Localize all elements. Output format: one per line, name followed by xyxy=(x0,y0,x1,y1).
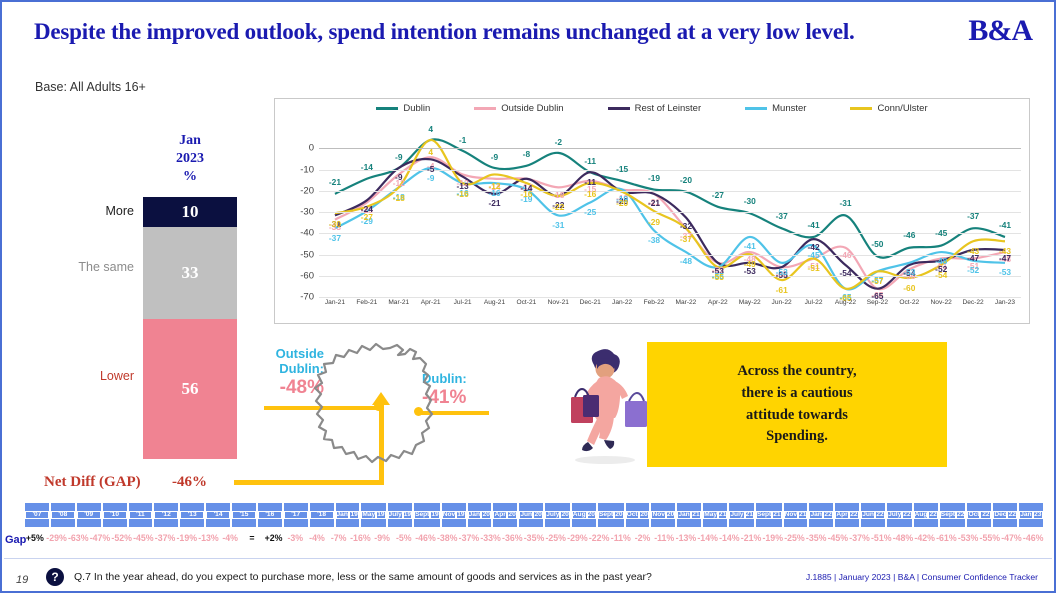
data-label: -27 xyxy=(712,190,724,200)
gap-table-column-header: '14 xyxy=(205,502,231,528)
page-title: Despite the improved outlook, spend inte… xyxy=(34,18,914,47)
chart-gridline xyxy=(319,255,1021,256)
slide: Despite the improved outlook, spend inte… xyxy=(0,0,1056,593)
gap-table-column-header: Dec22 xyxy=(992,502,1018,528)
legend-item-conn-ulster[interactable]: Conn/Ulster xyxy=(850,103,927,114)
y-tick-label: -20 xyxy=(300,185,314,196)
gap-table-value: -46% xyxy=(1022,533,1044,543)
gap-table-value: -21% xyxy=(740,533,762,543)
gap-table-column-header: Apr22 xyxy=(834,502,860,528)
gap-table-column-header: '09 xyxy=(76,502,102,528)
net-diff-label: Net Diff (GAP) xyxy=(44,474,141,491)
y-tick-label: -30 xyxy=(300,207,314,218)
data-label: -25 xyxy=(584,207,596,217)
gap-table-value: -29% xyxy=(567,533,589,543)
gap-table-column-header: Jan23 xyxy=(1018,502,1044,528)
x-tick-label: Jan-21 xyxy=(319,299,351,319)
gap-table-column-header: '13 xyxy=(179,502,205,528)
gap-table-column-header: Sept20 xyxy=(597,502,625,528)
data-label: -8 xyxy=(523,149,530,159)
trend-chart: DublinOutside DublinRest of LeinsterMuns… xyxy=(274,98,1030,324)
gap-table-value: -51% xyxy=(870,533,892,543)
data-label: -11 xyxy=(584,177,596,187)
data-label: -50 xyxy=(871,239,883,249)
gap-table-column-header: '07 xyxy=(24,502,50,528)
chart-plot-area: 0-10-20-30-40-50-60-70-21-14-94-1-9-8-2-… xyxy=(319,127,1021,297)
data-label: -37 xyxy=(776,211,788,221)
gap-table-value: -42% xyxy=(914,533,936,543)
gap-table-column-header: July21 xyxy=(728,502,755,528)
y-tick-label: -50 xyxy=(300,249,314,260)
gap-table-column-header: July20 xyxy=(544,502,571,528)
legend-swatch-icon xyxy=(474,107,496,110)
gap-table-values-row: +5%-29%-63%-47%-52%-45%-37%-19%-13%-4%=+… xyxy=(24,533,1044,543)
y-tick-label: -40 xyxy=(300,228,314,239)
gap-table-column-header: Jan20 xyxy=(467,502,493,528)
chart-gridline xyxy=(319,170,1021,171)
legend-swatch-icon xyxy=(745,107,767,110)
bar-segment-same: 33 xyxy=(143,227,237,319)
gap-table-value: +2% xyxy=(263,533,285,543)
data-label: -11 xyxy=(584,156,596,166)
data-label: -29 xyxy=(648,217,660,227)
data-label: -31 xyxy=(552,220,564,230)
chart-gridline xyxy=(319,212,1021,213)
legend-label: Outside Dublin xyxy=(501,103,563,114)
gap-table-value: -33% xyxy=(480,533,502,543)
gap-table-column-header: May19 xyxy=(360,502,386,528)
gap-table-value: -22% xyxy=(588,533,610,543)
x-tick-label: Dec-21 xyxy=(574,299,606,319)
gap-table-value: -47% xyxy=(1001,533,1023,543)
credit-text: J.1885 | January 2023 | B&A | Consumer C… xyxy=(806,572,1038,582)
gap-table-value: -38% xyxy=(436,533,458,543)
data-label: -12 xyxy=(488,181,500,191)
data-label: -54 xyxy=(839,268,851,278)
net-diff-connector-horizontal xyxy=(234,480,384,485)
data-label: -37 xyxy=(967,211,979,221)
gap-table-value: +5% xyxy=(24,533,46,543)
x-tick-label: Jan-23 xyxy=(989,299,1021,319)
bar-column-header-unit: % xyxy=(154,168,226,186)
bar-segment-more: 10 xyxy=(143,197,237,227)
gap-table-column-header: '12 xyxy=(153,502,179,528)
gap-table-value: -14% xyxy=(719,533,741,543)
x-tick-label: Jul-22 xyxy=(798,299,830,319)
data-label: -48 xyxy=(680,256,692,266)
callout-text-line1: Across the country, xyxy=(737,361,856,383)
gap-table-column-header: '08 xyxy=(50,502,76,528)
gap-table-value: -13% xyxy=(675,533,697,543)
data-label: -20 xyxy=(616,198,628,208)
data-label: -37 xyxy=(680,234,692,244)
yellow-callout-box: Across the country, there is a cautious … xyxy=(647,342,947,467)
legend-item-rest-of-leinster[interactable]: Rest of Leinster xyxy=(608,103,702,114)
x-tick-label: Aug-21 xyxy=(479,299,511,319)
data-label: -30 xyxy=(744,196,756,206)
bar-column-header-year: 2023 xyxy=(154,150,226,168)
y-tick-label: -70 xyxy=(300,292,314,303)
gap-table-value: -48% xyxy=(892,533,914,543)
y-tick-label: 0 xyxy=(309,143,314,154)
x-tick-label: Aug-22 xyxy=(830,299,862,319)
gap-table-column-header: Jan19 xyxy=(335,502,361,528)
gap-table-column-header: Jun22 xyxy=(860,502,886,528)
x-tick-label: Oct-22 xyxy=(893,299,925,319)
legend-item-dublin[interactable]: Dublin xyxy=(376,103,430,114)
bar-column-header-month: Jan xyxy=(154,132,226,150)
gap-table-column-header: '15 xyxy=(231,502,257,528)
gap-table-value: -36% xyxy=(501,533,523,543)
gap-table-value: = xyxy=(241,533,263,543)
data-label: -61 xyxy=(776,285,788,295)
data-label: -27 xyxy=(361,212,373,222)
chart-legend: DublinOutside DublinRest of LeinsterMuns… xyxy=(275,103,1029,114)
callout-text-line4: Spending. xyxy=(737,426,856,448)
bar-column-header: Jan 2023 % xyxy=(154,132,226,187)
gap-table-value: -25% xyxy=(784,533,806,543)
gap-table-column-header: Sept21 xyxy=(755,502,783,528)
callout-text-line2: there is a cautious xyxy=(737,383,856,405)
gap-table-column-header: Aug20 xyxy=(571,502,597,528)
chart-gridline xyxy=(319,148,1021,149)
data-label: -41 xyxy=(808,220,820,230)
legend-label: Dublin xyxy=(403,103,430,114)
data-label: -30 xyxy=(329,219,341,229)
data-label: -21 xyxy=(648,198,660,208)
gap-table-value: -35% xyxy=(805,533,827,543)
legend-item-munster[interactable]: Munster xyxy=(745,103,806,114)
x-tick-label: Feb-22 xyxy=(638,299,670,319)
data-label: -9 xyxy=(427,173,434,183)
x-tick-label: Mar-21 xyxy=(383,299,415,319)
data-label: -19 xyxy=(648,173,660,183)
gap-table-value: -35% xyxy=(523,533,545,543)
gap-table-value: -9% xyxy=(371,533,393,543)
data-label: -16 xyxy=(457,189,469,199)
gap-table-value: -29% xyxy=(46,533,68,543)
chart-gridline xyxy=(319,297,1021,298)
gap-table-column-header: Nov20 xyxy=(650,502,676,528)
data-label: -45 xyxy=(935,228,947,238)
net-diff-value: -46% xyxy=(172,474,207,491)
chart-gridline xyxy=(319,233,1021,234)
data-label: -16 xyxy=(520,189,532,199)
chart-gridline xyxy=(319,191,1021,192)
data-label: 4 xyxy=(428,147,433,157)
data-label: -2 xyxy=(555,137,562,147)
gap-table-value: -11% xyxy=(610,533,632,543)
data-label: -46 xyxy=(839,250,851,260)
gap-table-value: -37% xyxy=(154,533,176,543)
question-text: Q.7 In the year ahead, do you expect to … xyxy=(74,571,652,583)
x-tick-label: May-22 xyxy=(734,299,766,319)
ba-logo: B&A xyxy=(968,14,1032,48)
data-label: -48 xyxy=(935,256,947,266)
data-label: -18 xyxy=(393,193,405,203)
gap-table-value: -14% xyxy=(697,533,719,543)
data-label: -20 xyxy=(680,175,692,185)
question-mark-icon: ? xyxy=(46,568,64,586)
shopper-illustration-icon xyxy=(547,347,657,467)
gap-table-value: -46% xyxy=(415,533,437,543)
gap-table-header-row: '07'08'09'10'11'12'13'14'15'16'17'18Jan1… xyxy=(24,502,1044,528)
data-label: -46 xyxy=(903,230,915,240)
gap-table-value: -7% xyxy=(328,533,350,543)
gap-table-column-header: '11 xyxy=(128,502,154,528)
page-number: 19 xyxy=(16,574,28,586)
gap-table-column-header: '17 xyxy=(283,502,309,528)
y-tick-label: -60 xyxy=(300,270,314,281)
gap-table-value: -16% xyxy=(350,533,372,543)
gap-table-column-header: May21 xyxy=(702,502,728,528)
legend-swatch-icon xyxy=(850,107,872,110)
data-label: -37 xyxy=(329,233,341,243)
x-tick-label: Jan-22 xyxy=(606,299,638,319)
y-tick-label: -10 xyxy=(300,164,314,175)
gap-table-value: -13% xyxy=(198,533,220,543)
gap-table-value: -61% xyxy=(936,533,958,543)
legend-label: Rest of Leinster xyxy=(635,103,702,114)
data-label: -54 xyxy=(935,270,947,280)
legend-swatch-icon xyxy=(376,107,398,110)
data-label: -9 xyxy=(491,152,498,162)
data-label: -9 xyxy=(395,172,402,182)
data-label: 4 xyxy=(428,124,433,134)
gap-table-value: -55% xyxy=(979,533,1001,543)
data-label: -53 xyxy=(903,267,915,277)
data-label: -60 xyxy=(903,283,915,293)
data-label: -14 xyxy=(361,162,373,172)
data-label: -49 xyxy=(744,259,756,269)
data-label: -55 xyxy=(712,272,724,282)
data-label: -22 xyxy=(552,202,564,212)
gap-table-column-header: Nov19 xyxy=(441,502,467,528)
data-label: -43 xyxy=(967,246,979,256)
bar-segment-lower: 56 xyxy=(143,319,237,459)
data-label: -38 xyxy=(648,235,660,245)
x-tick-label: Feb-21 xyxy=(351,299,383,319)
gap-table-column-header: Oct20 xyxy=(625,502,651,528)
data-label: -41 xyxy=(744,241,756,251)
data-label: -21 xyxy=(329,177,341,187)
legend-item-outside-dublin[interactable]: Outside Dublin xyxy=(474,103,563,114)
gap-table-column-header: Jan22 xyxy=(808,502,834,528)
gap-table-value: -25% xyxy=(545,533,567,543)
data-label: -41 xyxy=(999,220,1011,230)
base-label: Base: All Adults 16+ xyxy=(35,80,146,94)
data-label: -57 xyxy=(871,276,883,286)
gap-table-value: -52% xyxy=(111,533,133,543)
data-label: -31 xyxy=(839,198,851,208)
legend-swatch-icon xyxy=(608,107,630,110)
gap-table-column-header: Oct22 xyxy=(966,502,992,528)
gap-table-value: -4% xyxy=(219,533,241,543)
gap-table-column-header: Aug22 xyxy=(913,502,939,528)
gap-table-value: -11% xyxy=(653,533,675,543)
data-label: -51 xyxy=(808,263,820,273)
callout-text-line3: attitude towards xyxy=(737,405,856,427)
data-label: -45 xyxy=(808,250,820,260)
x-tick-label: Sep-22 xyxy=(861,299,893,319)
gap-table-column-header: July19 xyxy=(387,502,414,528)
bar-label-lower: Lower xyxy=(14,369,134,383)
data-label: -53 xyxy=(776,267,788,277)
data-label: -21 xyxy=(488,198,500,208)
gap-table-value: -45% xyxy=(133,533,155,543)
x-tick-label: Apr-21 xyxy=(415,299,447,319)
data-label: -32 xyxy=(680,221,692,231)
chart-x-axis: Jan-21Feb-21Mar-21Apr-21Jul-21Aug-21Oct-… xyxy=(319,299,1021,319)
chart-gridline xyxy=(319,276,1021,277)
x-tick-label: Mar-22 xyxy=(670,299,702,319)
gap-table-column-header: July22 xyxy=(886,502,913,528)
x-tick-label: Oct-21 xyxy=(510,299,542,319)
x-tick-label: Jun-22 xyxy=(766,299,798,319)
data-label: -1 xyxy=(459,135,466,145)
gap-table-value: -3% xyxy=(284,533,306,543)
gap-table-value: -53% xyxy=(957,533,979,543)
gap-table-value: -37% xyxy=(458,533,480,543)
gap-table-column-header: Nov21 xyxy=(783,502,809,528)
data-label: -52 xyxy=(967,265,979,275)
x-tick-label: Nov-21 xyxy=(542,299,574,319)
gap-table-column-header: Jan21 xyxy=(676,502,702,528)
gap-table-column-header: Sept22 xyxy=(939,502,967,528)
data-label: -16 xyxy=(584,189,596,199)
legend-label: Munster xyxy=(772,103,806,114)
ireland-map-icon xyxy=(302,342,482,472)
data-label: -53 xyxy=(999,267,1011,277)
gap-table-value: -19% xyxy=(762,533,784,543)
gap-table-value: -63% xyxy=(67,533,89,543)
chart-lines xyxy=(319,127,1021,299)
gap-table-value: -37% xyxy=(849,533,871,543)
gap-table-column-header: '16 xyxy=(257,502,283,528)
gap-table-value: -45% xyxy=(827,533,849,543)
x-tick-label: Nov-22 xyxy=(925,299,957,319)
gap-table-column-header: Jun20 xyxy=(518,502,544,528)
footer-divider xyxy=(4,558,1052,559)
gap-table-value: -47% xyxy=(89,533,111,543)
data-label: -43 xyxy=(999,246,1011,256)
gap-table-value: -4% xyxy=(306,533,328,543)
x-tick-label: Jul-21 xyxy=(447,299,479,319)
gap-table-column-header: '10 xyxy=(102,502,128,528)
legend-label: Conn/Ulster xyxy=(877,103,927,114)
data-label: -15 xyxy=(616,164,628,174)
gap-table-column-header: '18 xyxy=(309,502,335,528)
data-label: -9 xyxy=(395,152,402,162)
gap-table-value: -19% xyxy=(176,533,198,543)
bar-label-same: The same xyxy=(14,260,134,274)
x-tick-label: Dec-22 xyxy=(957,299,989,319)
gap-table-value: -2% xyxy=(632,533,654,543)
gap-table-column-header: Sept19 xyxy=(413,502,441,528)
gap-table-value: -5% xyxy=(393,533,415,543)
gap-table-column-header: Apr20 xyxy=(492,502,518,528)
bar-label-more: More xyxy=(14,204,134,218)
x-tick-label: Apr-22 xyxy=(702,299,734,319)
